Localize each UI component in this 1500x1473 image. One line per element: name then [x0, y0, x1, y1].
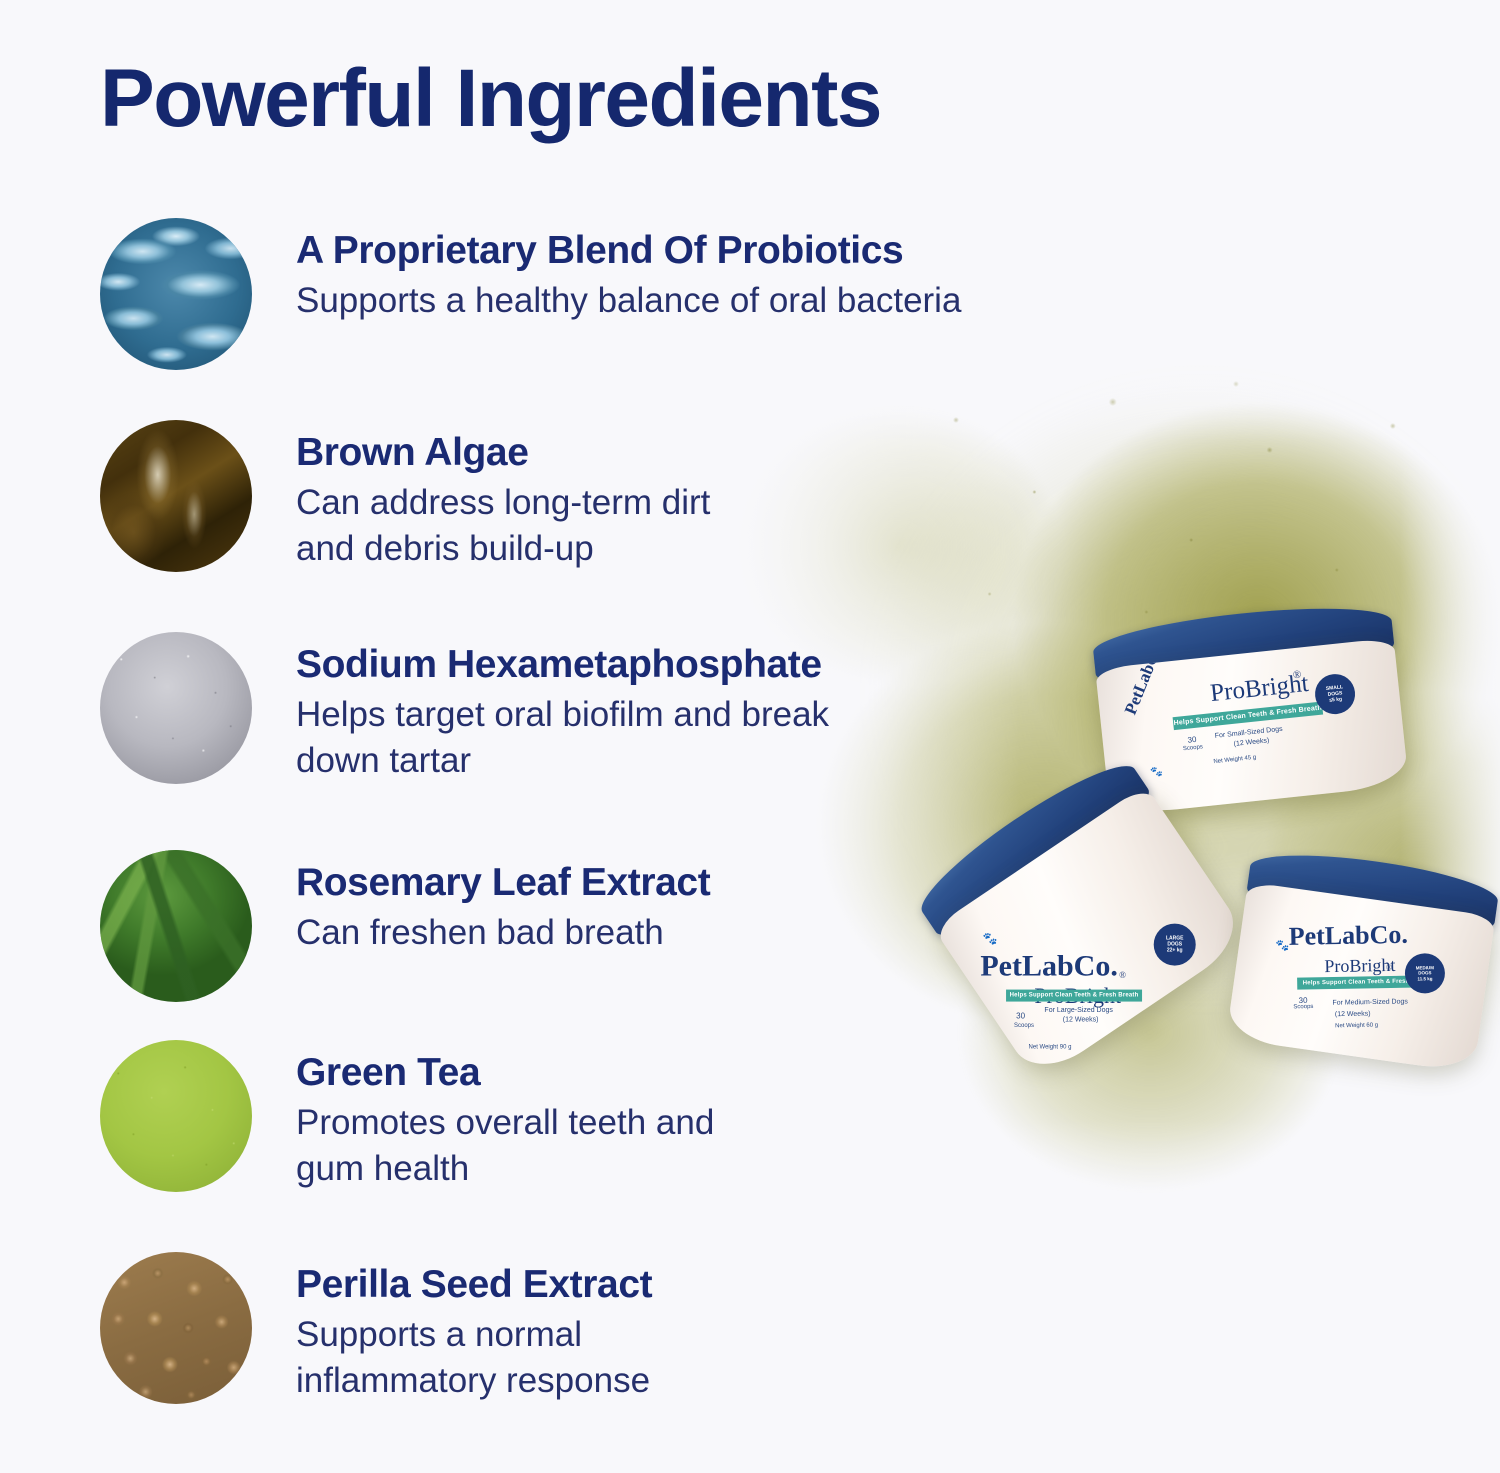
- product-name: ProBright: [1324, 956, 1395, 975]
- ingredient-name: Sodium Hexametaphosphate: [296, 644, 829, 686]
- jar-label: PetLabCo. ProBright ® Helps Support Clea…: [933, 785, 1249, 1082]
- ingredient-name: A Proprietary Blend Of Probiotics: [296, 230, 961, 272]
- size-badge: LARGE DOGS 22+ kg: [1154, 924, 1196, 966]
- ingredient-description: Can address long-term dirt and debris bu…: [296, 480, 710, 572]
- scoops-label: Scoops: [1014, 1023, 1034, 1030]
- brown-algae-kelp-icon: [100, 420, 252, 572]
- ingredient-text: Brown Algae Can address long-term dirt a…: [296, 420, 710, 572]
- trademark-symbol: ®: [1292, 670, 1301, 682]
- trademark-symbol: ®: [1119, 971, 1126, 980]
- ingredient-name: Rosemary Leaf Extract: [296, 862, 710, 904]
- page-title: Powerful Ingredients: [100, 52, 881, 146]
- net-weight: Net Weight 90 g: [1029, 1044, 1072, 1050]
- brand-name: PetLabCo.: [980, 951, 1118, 981]
- brand-name: PetLabCo.: [1288, 922, 1408, 950]
- ingredient-text: Green Tea Promotes overall teeth and gum…: [296, 1040, 714, 1192]
- tagline-bar: Helps Support Clean Teeth & Fresh Breath: [1173, 702, 1324, 731]
- dose-text: For Large-Sized Dogs: [1044, 1007, 1112, 1015]
- ingredient-text: Sodium Hexametaphosphate Helps target or…: [296, 632, 829, 784]
- list-item: Brown Algae Can address long-term dirt a…: [100, 420, 710, 572]
- ingredient-description: Promotes overall teeth and gum health: [296, 1100, 714, 1192]
- net-weight: Net Weight 45 g: [1213, 755, 1256, 765]
- tagline-bar: Helps Support Clean Teeth & Fresh Breath: [1006, 990, 1142, 1002]
- ingredient-name: Perilla Seed Extract: [296, 1264, 652, 1306]
- badge-weight: ≤5 kg: [1329, 696, 1342, 703]
- list-item: Green Tea Promotes overall teeth and gum…: [100, 1040, 714, 1192]
- ingredient-description: Helps target oral biofilm and break down…: [296, 692, 829, 784]
- ingredient-description: Can freshen bad breath: [296, 910, 710, 956]
- trademark-symbol: ®: [1386, 964, 1392, 972]
- list-item: Sodium Hexametaphosphate Helps target or…: [100, 632, 829, 784]
- probiotics-bacteria-icon: [100, 218, 252, 370]
- list-item: A Proprietary Blend Of Probiotics Suppor…: [100, 218, 961, 370]
- paw-icon: 🐾: [1275, 939, 1289, 952]
- ingredient-text: Perilla Seed Extract Supports a normal i…: [296, 1252, 652, 1404]
- perilla-seeds-icon: [100, 1252, 252, 1404]
- powder-fade-bottom: [620, 1120, 1500, 1473]
- scoops-label: Scoops: [1293, 1004, 1313, 1011]
- list-item: Perilla Seed Extract Supports a normal i…: [100, 1252, 652, 1404]
- product-jar-medium: PetLabCo. ProBright ® Helps Support Clea…: [1225, 844, 1500, 1080]
- ingredient-description: Supports a normal inflammatory response: [296, 1312, 652, 1404]
- ingredient-name: Brown Algae: [296, 432, 710, 474]
- jar-body: PetLabCo. ProBright ® Helps Support Clea…: [1226, 882, 1496, 1073]
- green-tea-powder-icon: [100, 1040, 252, 1192]
- badge-weight: 11.5 kg: [1417, 976, 1432, 982]
- dose-text: For Medium-Sized Dogs: [1332, 998, 1408, 1007]
- paw-icon: 🐾: [983, 932, 998, 946]
- list-item: Rosemary Leaf Extract Can freshen bad br…: [100, 850, 710, 1002]
- jar-body: PetLabCo. ProBright ® Helps Support Clea…: [933, 785, 1249, 1082]
- ingredient-name: Green Tea: [296, 1052, 714, 1094]
- duration-text: (12 Weeks): [1335, 1011, 1371, 1020]
- size-badge: MEDIUM DOGS 11.5 kg: [1405, 953, 1446, 994]
- white-powder-icon: [100, 632, 252, 784]
- net-weight: Net Weight 60 g: [1335, 1023, 1378, 1030]
- rosemary-sprig-icon: [100, 850, 252, 1002]
- ingredient-text: Rosemary Leaf Extract Can freshen bad br…: [296, 850, 710, 956]
- powder-fade-right: [1400, 250, 1500, 1350]
- ingredient-description: Supports a healthy balance of oral bacte…: [296, 278, 961, 324]
- scoops-count: 30: [1016, 1012, 1025, 1021]
- ingredient-text: A Proprietary Blend Of Probiotics Suppor…: [296, 218, 961, 324]
- jar-label: PetLabCo. ProBright ® Helps Support Clea…: [1226, 882, 1496, 1073]
- duration-text: (12 Weeks): [1233, 737, 1269, 749]
- duration-text: (12 Weeks): [1063, 1016, 1099, 1024]
- badge-weight: 22+ kg: [1167, 948, 1183, 954]
- ingredients-infographic: Powerful Ingredients A Proprietary Blend…: [0, 0, 1500, 1473]
